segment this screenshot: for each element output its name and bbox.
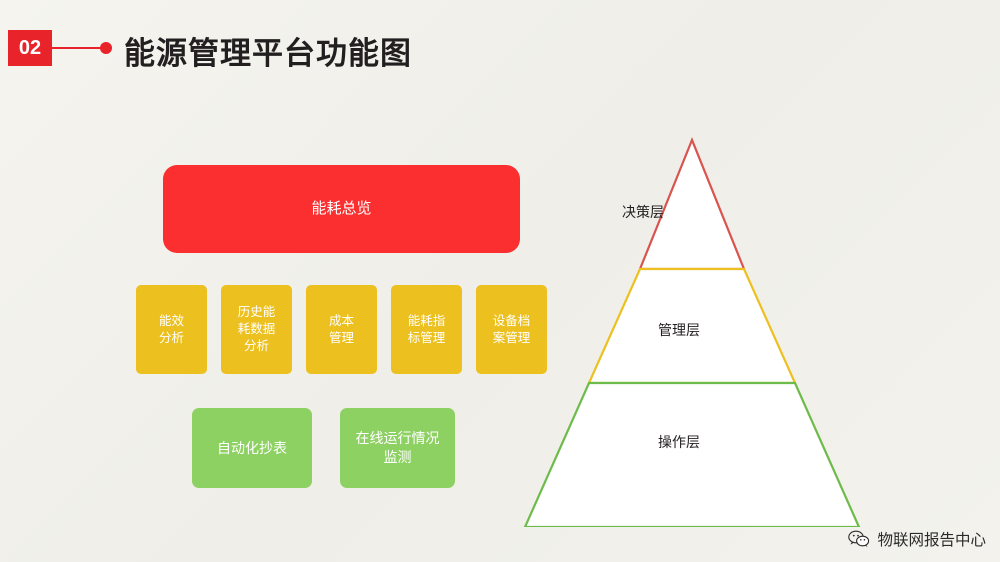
pyramid-label-decision: 决策层 — [393, 202, 893, 222]
pyramid-label-operation: 操作层 — [429, 432, 929, 452]
box-label-wrap: 自动化抄表 — [217, 439, 287, 458]
box-label-line2: 管理 — [329, 331, 354, 345]
box-label-wrap: 在线运行情况 监测 — [356, 429, 440, 467]
wechat-icon — [848, 530, 870, 548]
pyramid-level-operation[interactable] — [525, 383, 859, 527]
box-label-line2: 分析 — [159, 331, 184, 345]
slide-canvas: 02 能源管理平台功能图 能耗总览 能效 分析 历史能 耗数据 分析 成本 管理… — [0, 0, 1000, 562]
pyramid-diagram: 决策层 管理层 操作层 — [455, 132, 955, 527]
box-label-wrap: 历史能 耗数据 分析 — [238, 304, 276, 355]
box-label-line1: 能效 — [159, 314, 184, 328]
box-label-line3: 分析 — [244, 339, 269, 353]
box-label-wrap: 成本 管理 — [329, 313, 354, 347]
box-label-line1: 历史能 — [238, 305, 276, 319]
watermark-text: 物联网报告中心 — [877, 528, 986, 550]
box-label-line1: 自动化抄表 — [217, 440, 287, 456]
slide-header: 02 能源管理平台功能图 — [0, 18, 1000, 78]
section-number-badge: 02 — [8, 30, 52, 66]
box-label-wrap: 能效 分析 — [159, 313, 184, 347]
box-cost-management[interactable]: 成本 管理 — [306, 285, 377, 374]
box-energy-overview-label: 能耗总览 — [311, 199, 371, 219]
header-connector-line — [52, 47, 104, 49]
box-label-line1: 在线运行情况 — [356, 430, 440, 446]
box-label-line2: 耗数据 — [238, 322, 276, 336]
page-title: 能源管理平台功能图 — [124, 28, 412, 73]
watermark: 物联网报告中心 — [848, 528, 986, 550]
box-energy-efficiency-analysis[interactable]: 能效 分析 — [136, 285, 207, 374]
box-label-line2: 监测 — [384, 449, 412, 465]
box-automatic-meter-reading[interactable]: 自动化抄表 — [192, 408, 312, 488]
box-historical-energy-data-analysis[interactable]: 历史能 耗数据 分析 — [221, 285, 292, 374]
box-label-line1: 成本 — [329, 314, 354, 328]
pyramid-label-management: 管理层 — [429, 320, 929, 340]
header-bullet-dot — [100, 42, 112, 54]
